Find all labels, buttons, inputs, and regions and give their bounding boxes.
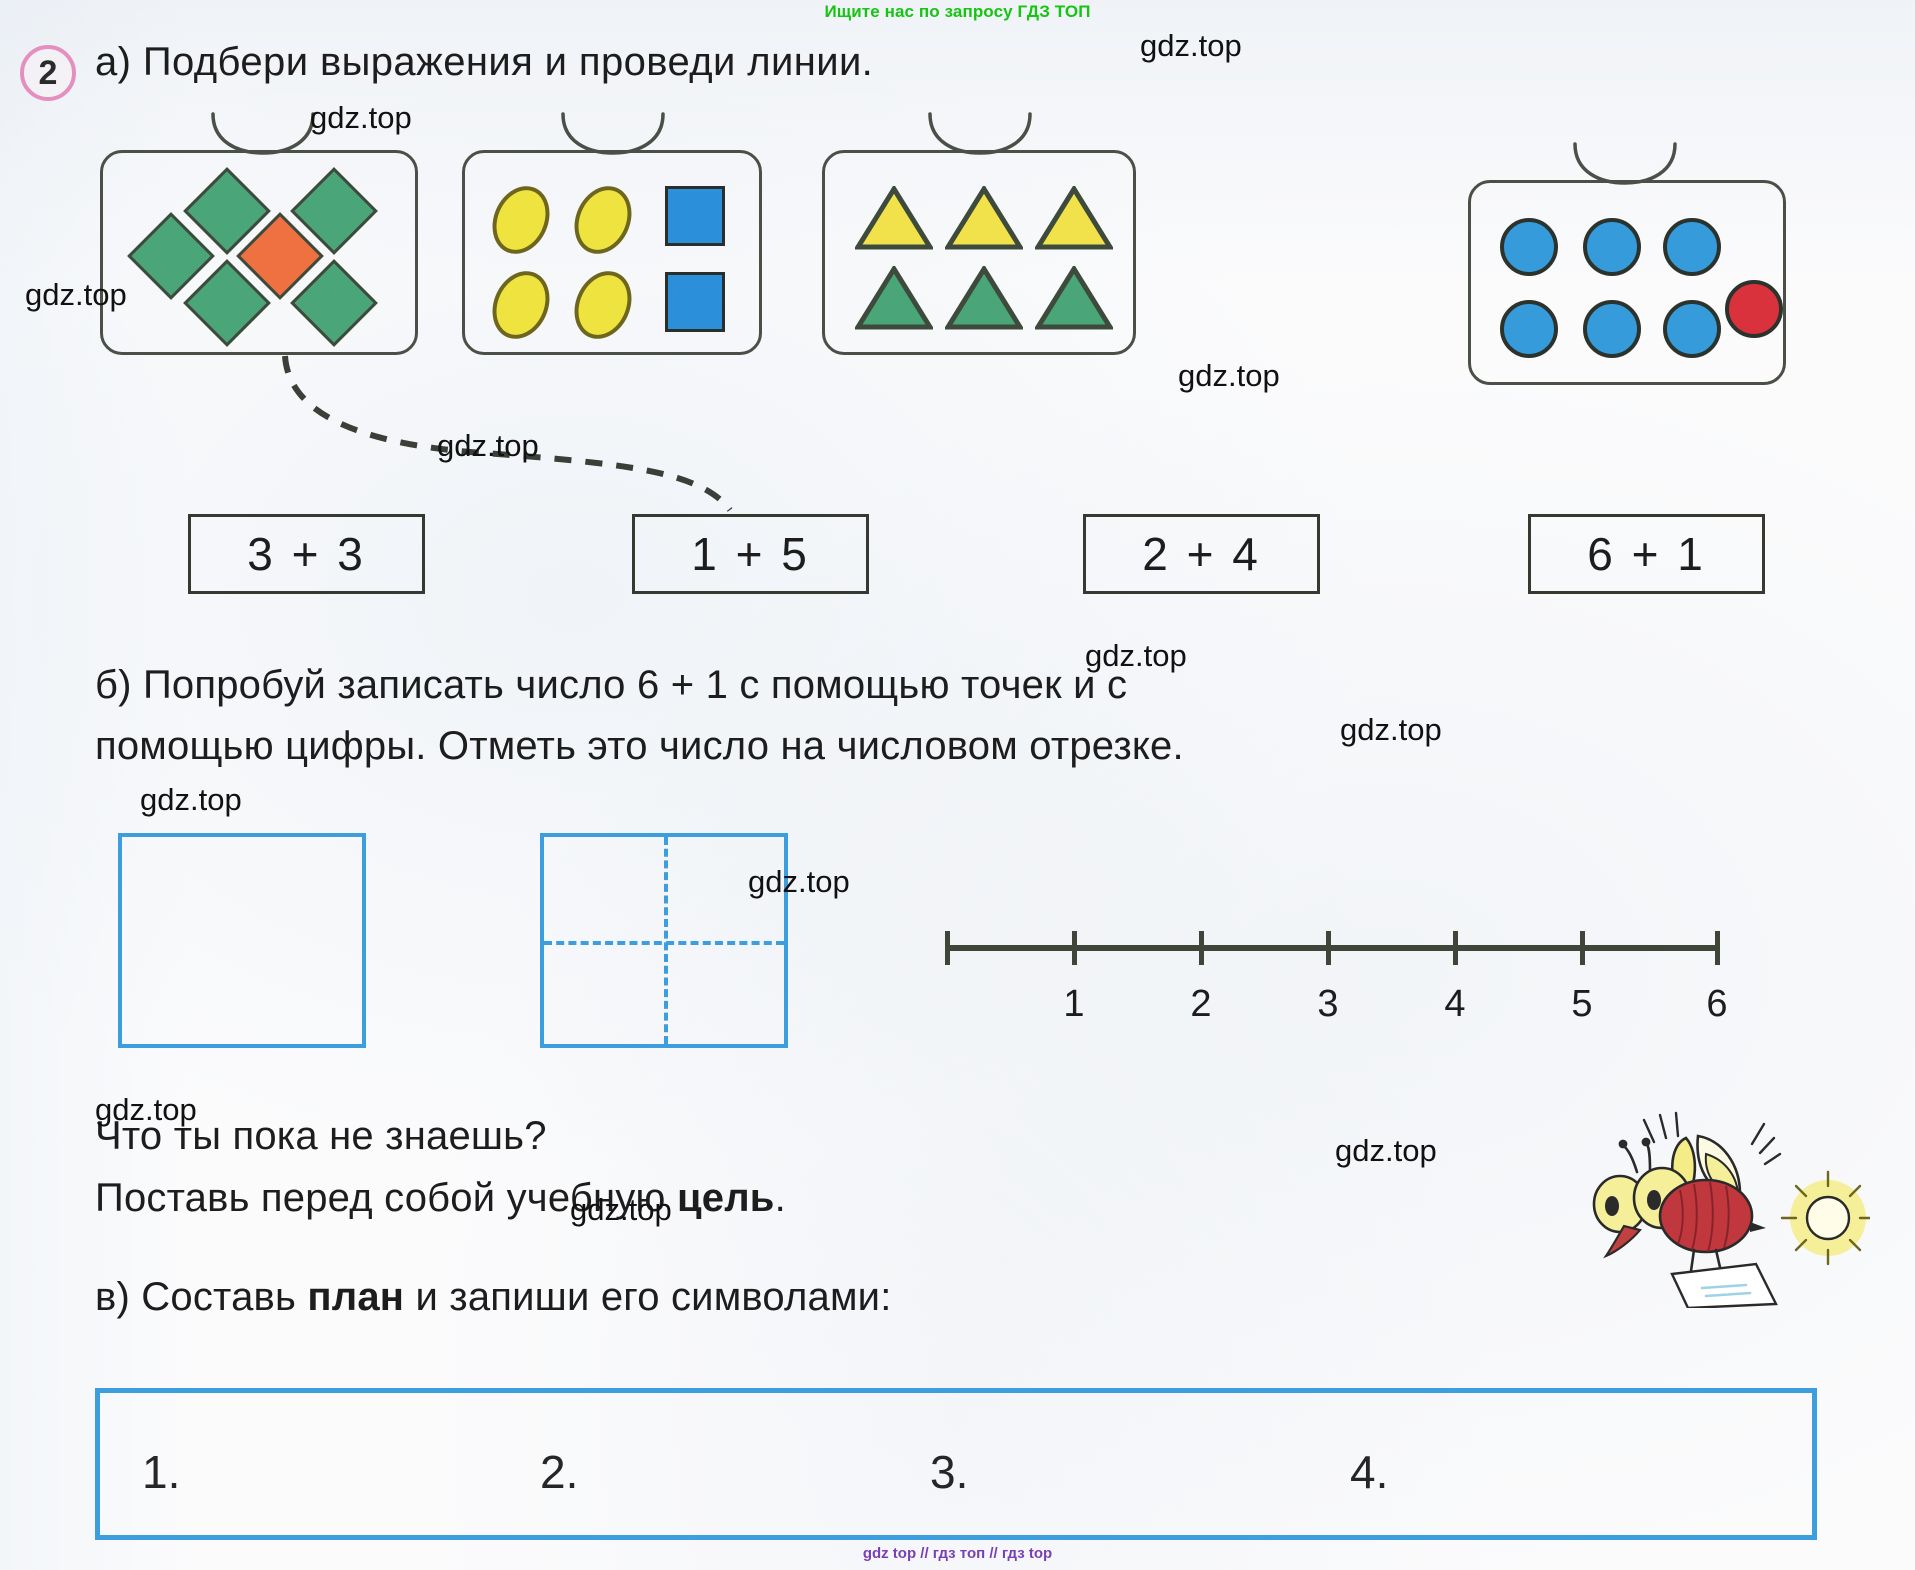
watermark-gdz-top: gdz.top [310,100,412,136]
number-line-tick-0 [945,931,950,965]
watermark-gdz-top: gdz.top [1140,28,1242,64]
plan-item-2: 2. [540,1445,578,1499]
answer-box-dots[interactable] [118,833,366,1048]
shape-square-blue [665,272,725,332]
reflection-question: Что ты пока не знаешь? Поставь перед соб… [95,1105,1495,1229]
reflection-line-2: Поставь перед собой учебную цель. [95,1167,1495,1229]
reflection-line-2-pre: Поставь перед собой учебную [95,1176,677,1220]
plan-item-1: 1. [142,1445,180,1499]
number-line-label-4: 4 [1435,983,1475,1026]
bee-illustration [1580,1098,1870,1313]
part-b-line-2: помощью цифры. Отметь это число на число… [95,716,1855,777]
number-line-tick-1 [1072,931,1077,965]
reflection-goal-word: цель [677,1176,775,1220]
number-line-label-2: 2 [1181,983,1221,1026]
part-v-instruction: в) Составь план и запиши его символами: [95,1275,892,1320]
expression-box-1-plus-5[interactable]: 1 + 5 [632,514,869,594]
shape-triangle-yellow [855,186,933,250]
number-line-tick-4 [1453,931,1458,965]
part-v-post: и запиши его символами: [404,1275,891,1319]
watermark-gdz-top: gdz.top [1178,358,1280,394]
part-b-instruction: б) Попробуй записать число 6 + 1 с помощ… [95,655,1855,777]
plan-item-3: 3. [930,1445,968,1499]
shape-triangle-yellow [1035,186,1113,250]
part-b-line-1: б) Попробуй записать число 6 + 1 с помощ… [95,655,1855,716]
expression-box-6-plus-1[interactable]: 6 + 1 [1528,514,1765,594]
watermark-gdz-top: gdz.top [437,428,539,464]
shape-triangle-green [945,266,1023,330]
part-a-instruction: а) Подбери выражения и проведи линии. [95,40,873,85]
number-line-tick-5 [1580,931,1585,965]
number-line-label-3: 3 [1308,983,1348,1026]
number-line[interactable]: 1 2 3 4 5 6 [945,945,1725,1055]
number-line-tick-2 [1199,931,1204,965]
number-line-label-6: 6 [1697,983,1737,1026]
shape-triangle-green [855,266,933,330]
shape-circle-blue [1663,300,1721,358]
brace-icon-2 [558,112,668,156]
plan-box[interactable]: 1. 2. 3. 4. [95,1388,1817,1540]
expression-box-2-plus-4[interactable]: 2 + 4 [1083,514,1320,594]
brace-icon-3 [925,112,1035,156]
digit-box-guide-horizontal [544,941,784,945]
shape-circle-blue [1583,218,1641,276]
answer-box-digit[interactable] [540,833,788,1048]
part-v-pre: в) Составь [95,1275,307,1319]
shape-circle-blue [1500,218,1558,276]
plan-item-4: 4. [1350,1445,1388,1499]
number-line-label-1: 1 [1054,983,1094,1026]
number-line-tick-3 [1326,931,1331,965]
number-line-tick-6 [1715,931,1720,965]
shape-circle-red [1725,280,1783,338]
part-v-plan-word: план [307,1275,404,1319]
reflection-line-2-post: . [775,1176,786,1220]
shape-circle-blue [1663,218,1721,276]
reflection-line-1: Что ты пока не знаешь? [95,1105,1495,1167]
brace-icon-4 [1570,142,1680,186]
shape-square-blue [665,186,725,246]
promo-footer-text: gdz top // гдз топ // гдз top [0,1545,1915,1562]
shape-circle-blue [1500,300,1558,358]
number-line-axis [945,945,1720,951]
promo-header-text: Ищите нас по запросу ГДЗ ТОП [0,2,1915,22]
shape-triangle-green [1035,266,1113,330]
shape-circle-blue [1583,300,1641,358]
expression-box-3-plus-3[interactable]: 3 + 3 [188,514,425,594]
watermark-gdz-top: gdz.top [140,782,242,818]
shape-triangle-yellow [945,186,1023,250]
task-number-badge: 2 [20,45,76,101]
brace-icon-1 [208,112,318,156]
number-line-label-5: 5 [1562,983,1602,1026]
